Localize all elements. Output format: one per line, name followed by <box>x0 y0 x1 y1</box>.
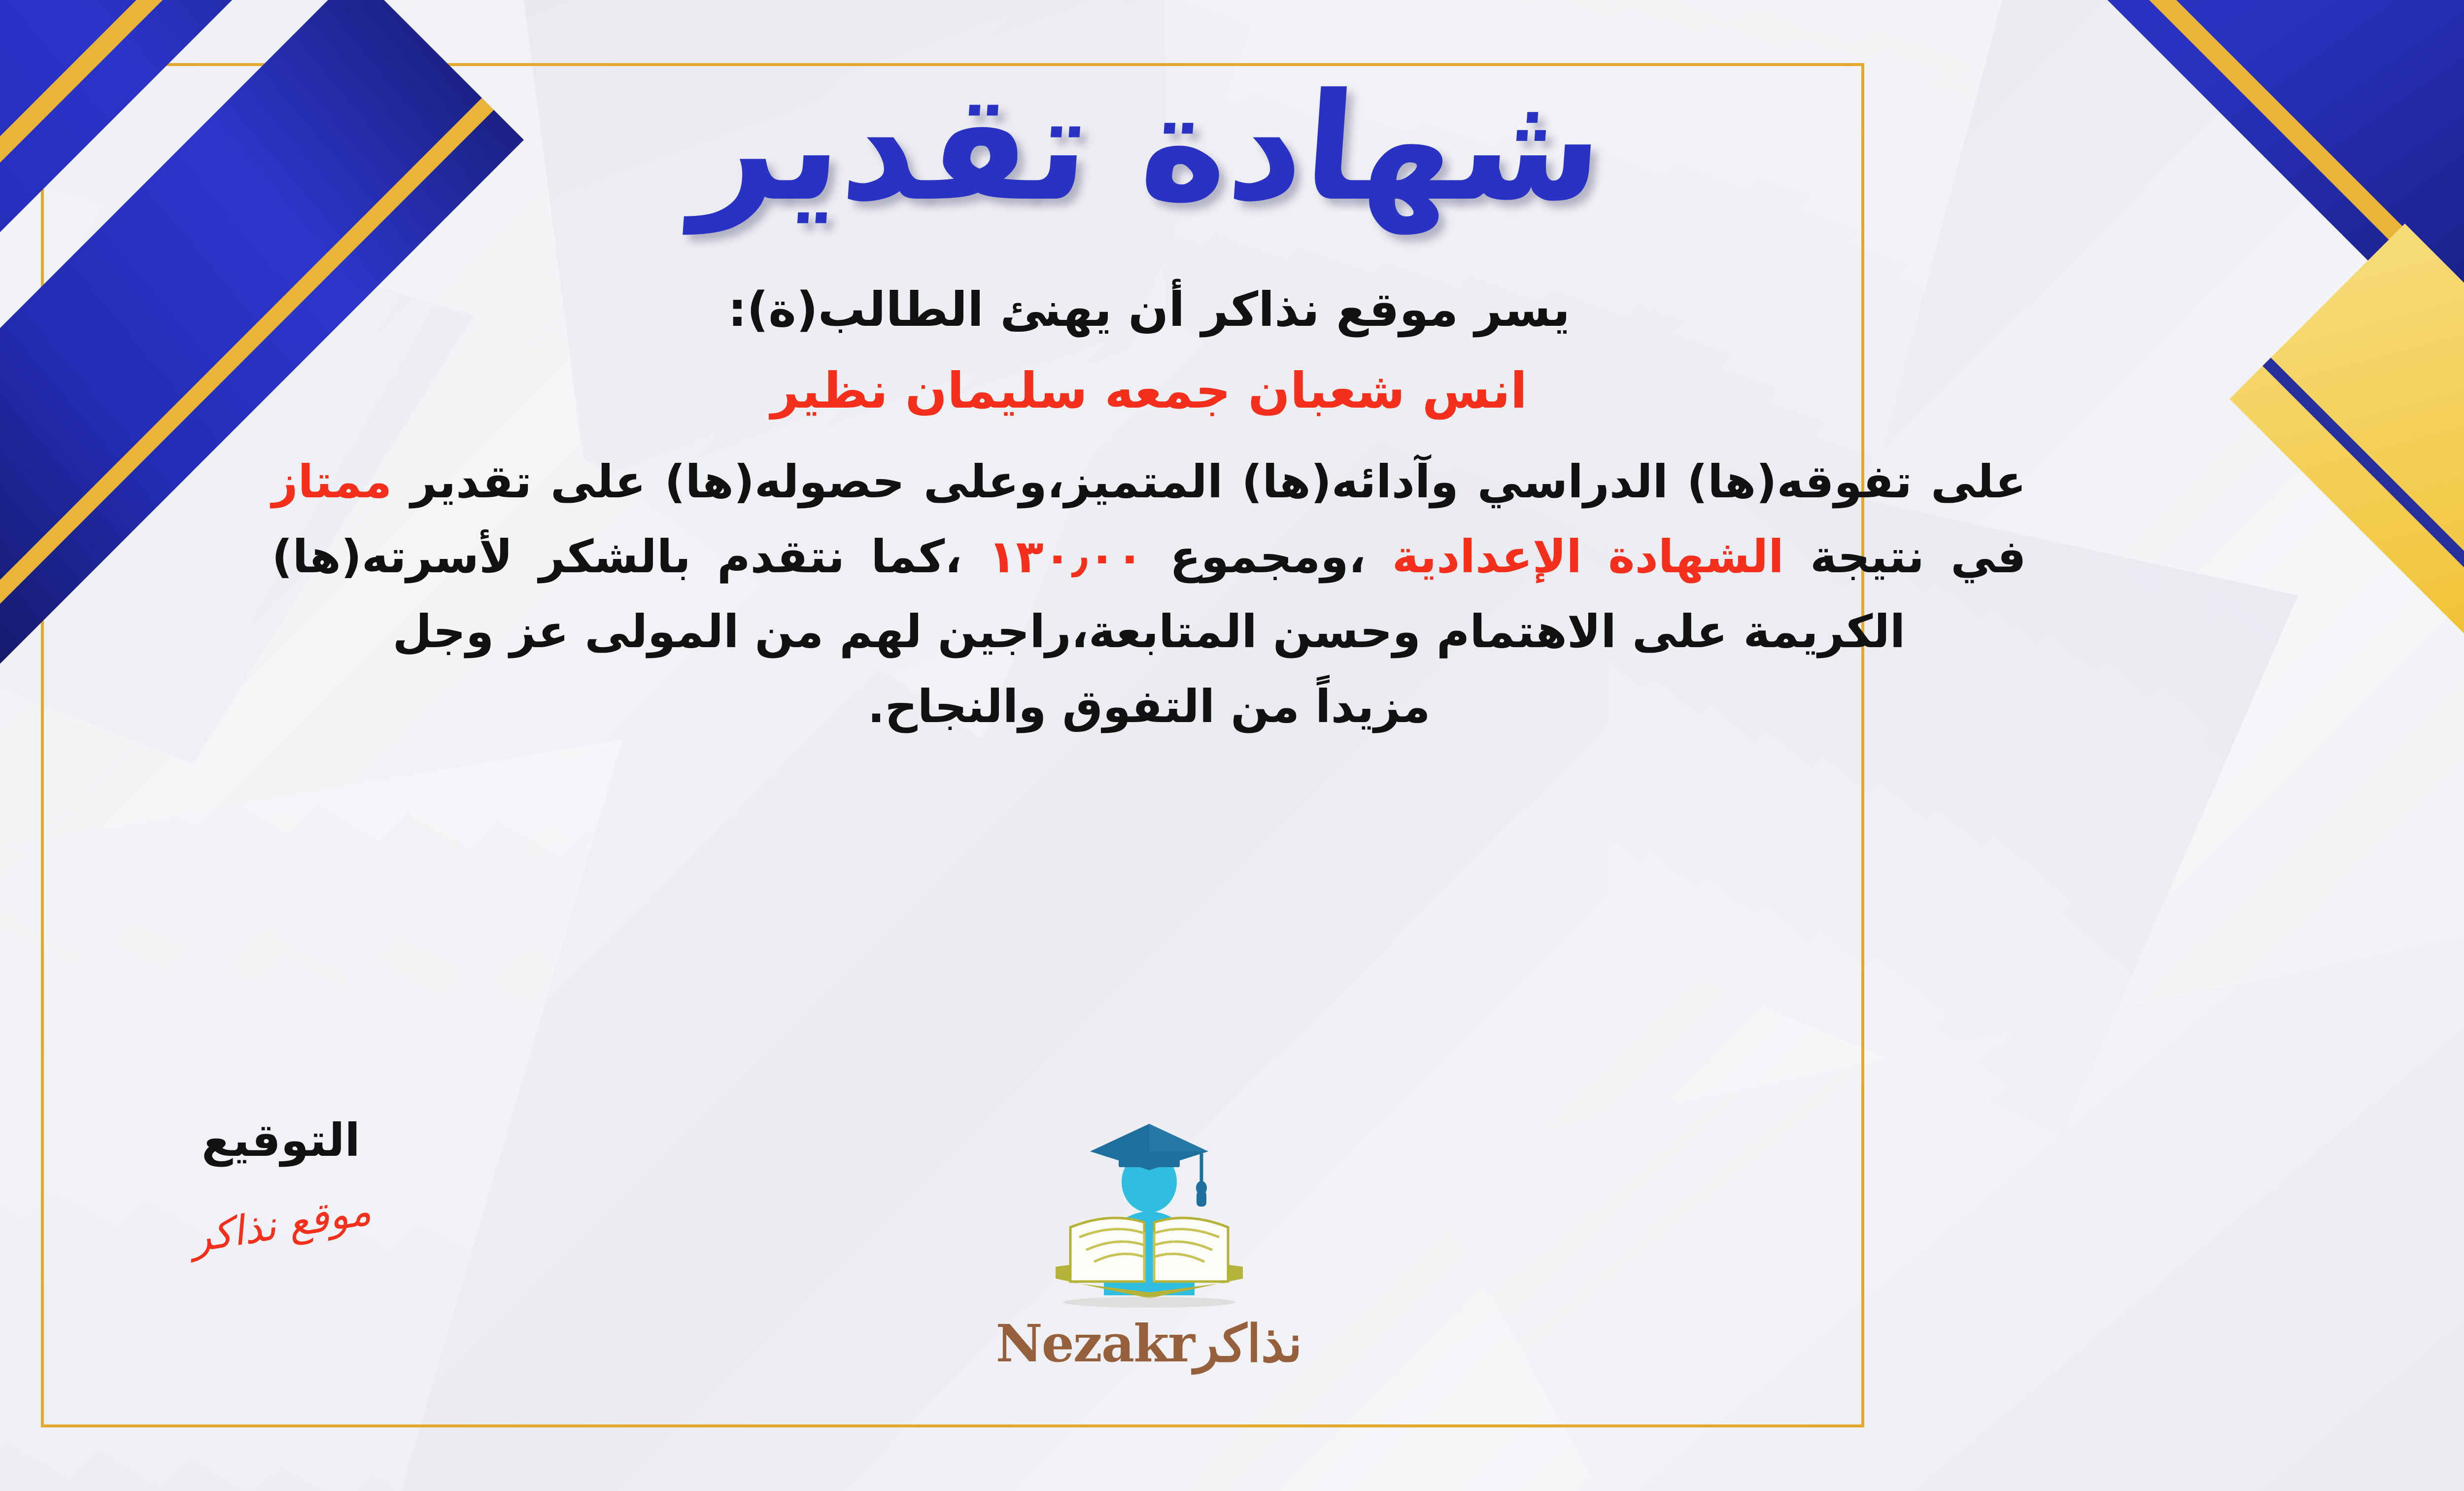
nezakr-logo-icon <box>996 1119 1302 1316</box>
total-score-value: ١٣٠٫٠٠ <box>988 530 1143 583</box>
body-text-result-prefix: في نتيجة <box>1810 530 2026 583</box>
body-line-family: الكريمة على الاهتمام وحسن المتابعة،راجين… <box>272 597 2026 666</box>
certificate-footer: التوقيع موقع نذاكر <box>0 1114 2464 1449</box>
body-line-closing: مزيداً من التفوق والنجاح. <box>272 672 2026 741</box>
grade-value: ممتاز <box>272 455 392 508</box>
student-name: انس شعبان جمعه سليمان نظير <box>272 356 2026 426</box>
body-line-grade: على تفوقه(ها) الدراسي وآدائه(ها) المتميز… <box>272 448 2026 517</box>
intro-line: يسر موقع نذاكر أن يهنئ الطالب(ة): <box>272 276 2026 343</box>
signature-script: موقع نذاكر <box>188 1187 374 1262</box>
logo-wordmark-ar: نذاكر <box>1194 1313 1302 1374</box>
signature-block: التوقيع موقع نذاكر <box>94 1114 468 1248</box>
certificate-canvas: شهادة تقدير يسر موقع نذاكر أن يهنئ الطال… <box>0 0 2464 1491</box>
body-paragraph: على تفوقه(ها) الدراسي وآدائه(ها) المتميز… <box>272 448 2026 741</box>
body-line-exam: في نتيجة الشهادة الإعدادية ،ومجموع ١٣٠٫٠… <box>272 522 2026 591</box>
certificate-body: يسر موقع نذاكر أن يهنئ الطالب(ة): انس شع… <box>272 276 2026 747</box>
body-text-thanks: ،كما نتقدم بالشكر لأسرته(ها) <box>272 530 962 583</box>
body-text-achievement: على تفوقه(ها) الدراسي وآدائه(ها) المتميز… <box>411 455 2026 508</box>
signature-label: التوقيع <box>94 1114 468 1167</box>
certificate-title: شهادة تقدير <box>690 74 1608 222</box>
logo-wordmark-en: Nezakr <box>996 1313 1195 1374</box>
logo-wordmark: نذاكرNezakr <box>927 1313 1371 1374</box>
body-text-total-prefix: ،ومجموع <box>1170 530 1366 583</box>
exam-name: الشهادة الإعدادية <box>1392 530 1784 583</box>
site-logo: نذاكرNezakr <box>927 1119 1371 1374</box>
